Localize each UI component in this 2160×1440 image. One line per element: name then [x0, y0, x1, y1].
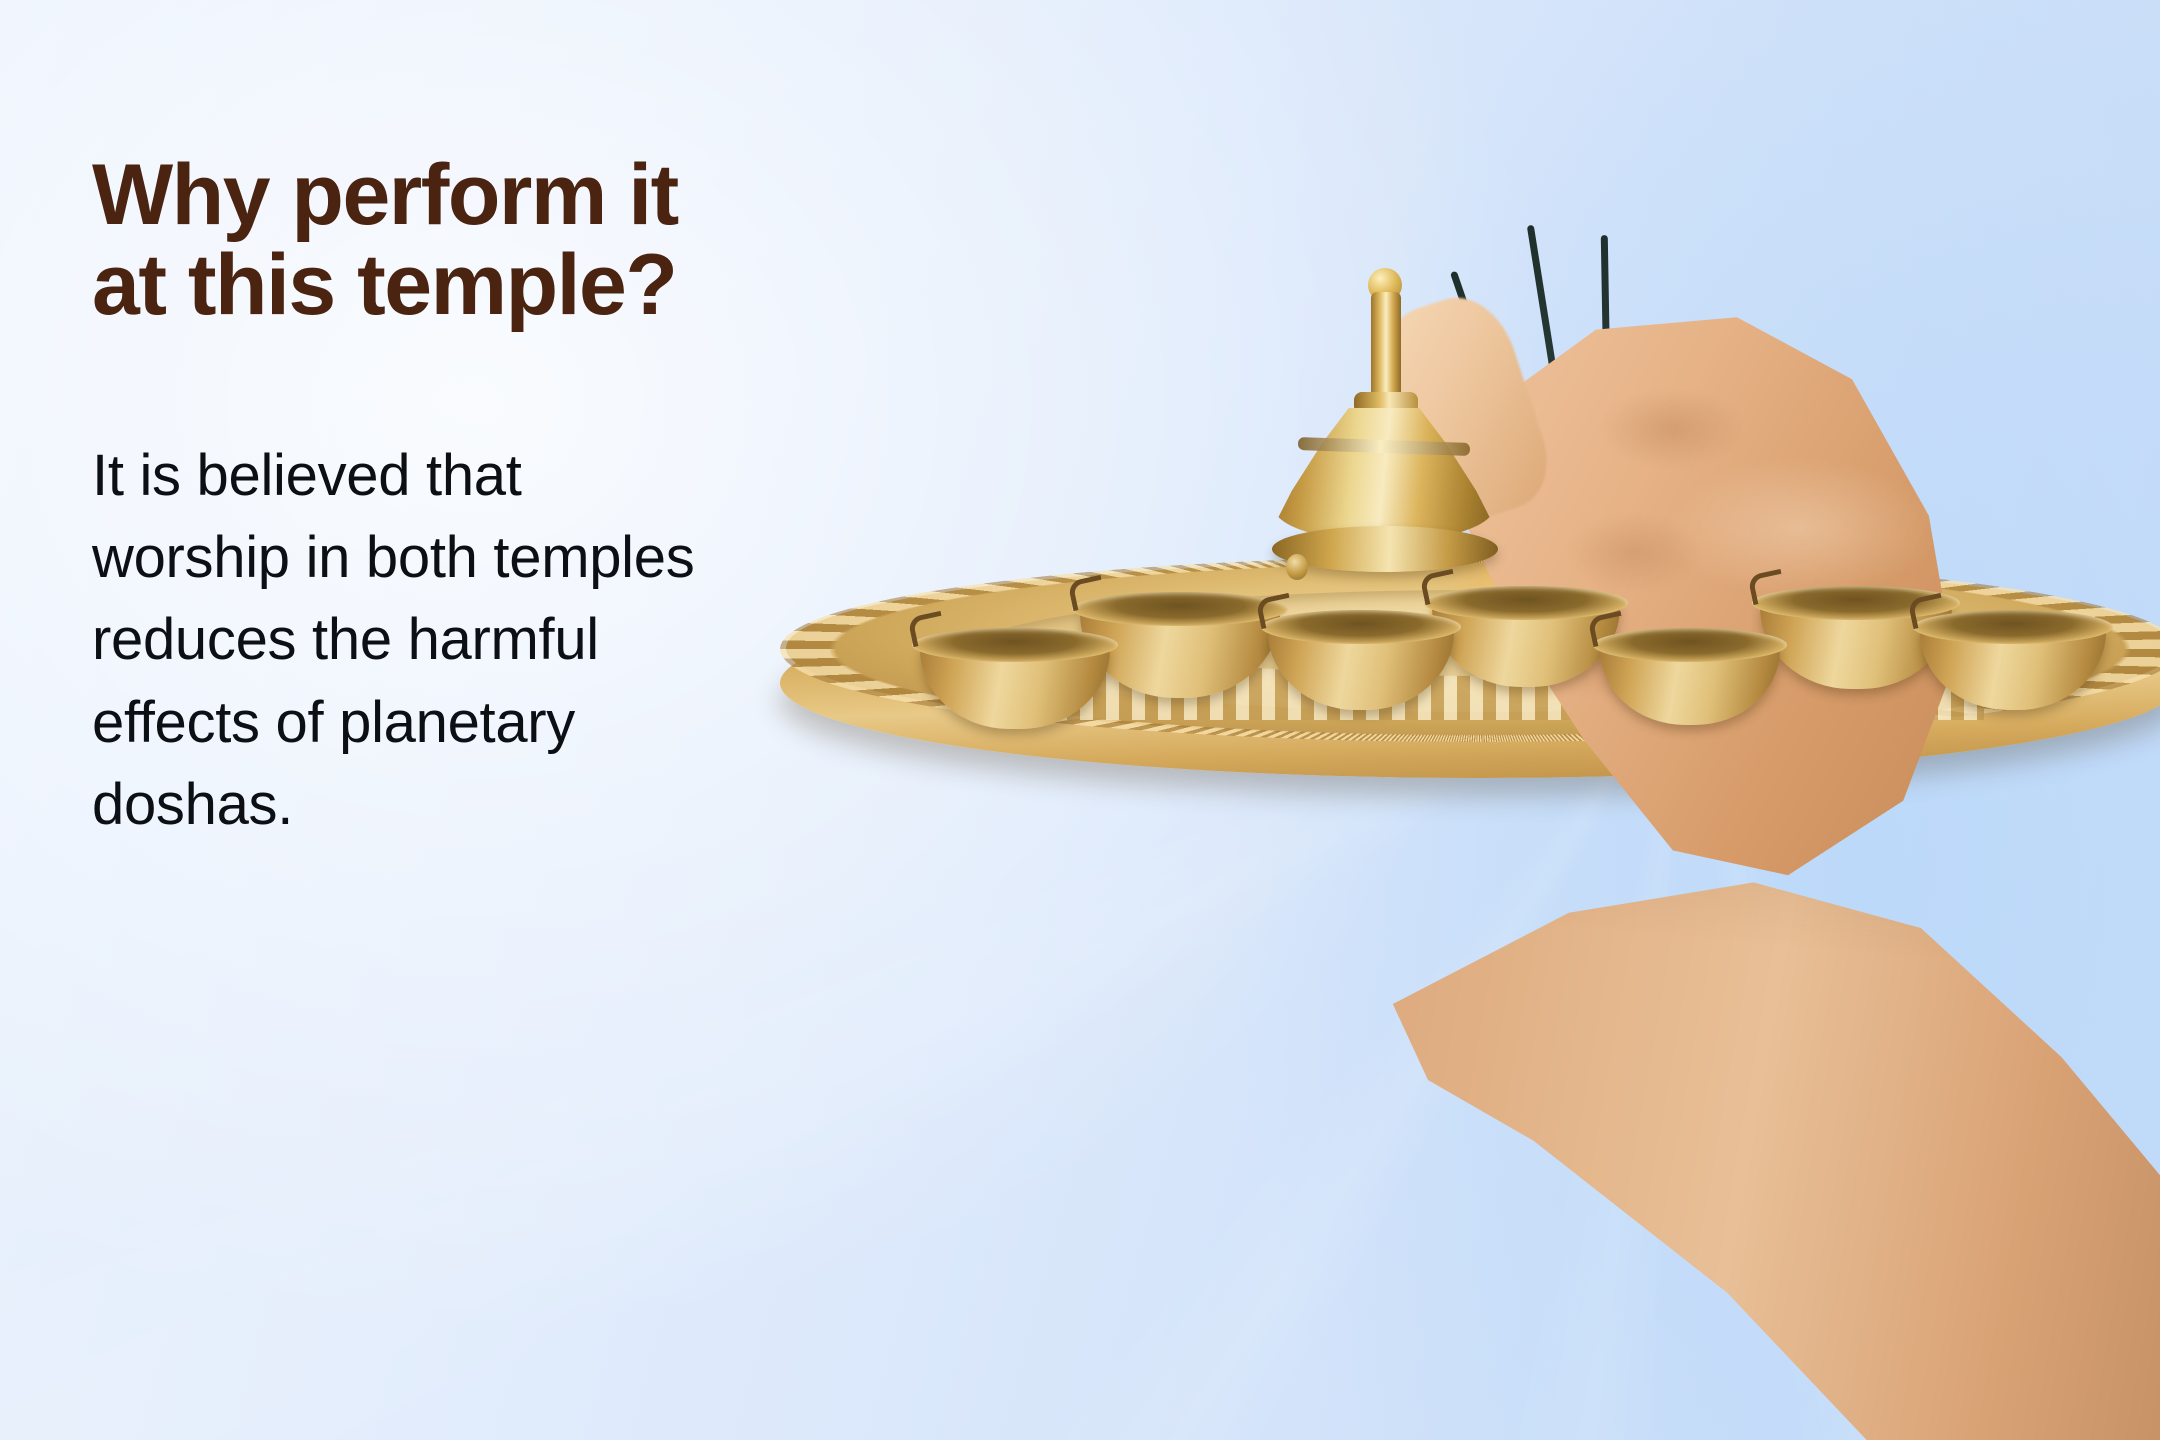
brass-bowl — [1920, 610, 2106, 720]
brass-bowl — [920, 628, 1110, 740]
slide-canvas: Why perform it at this temple? It is bel… — [0, 0, 2160, 1440]
brass-bowl — [1268, 610, 1454, 720]
puja-ritual-photo — [1040, 0, 2160, 1440]
brass-bell-icon — [1240, 268, 1520, 568]
brass-bowl — [1600, 628, 1780, 734]
bell-clapper — [1286, 554, 1308, 580]
bell-handle — [1371, 292, 1401, 408]
brass-bowls-group — [1040, 0, 2160, 1440]
page-title: Why perform it at this temple? — [92, 150, 1022, 331]
bell-body — [1274, 408, 1494, 542]
